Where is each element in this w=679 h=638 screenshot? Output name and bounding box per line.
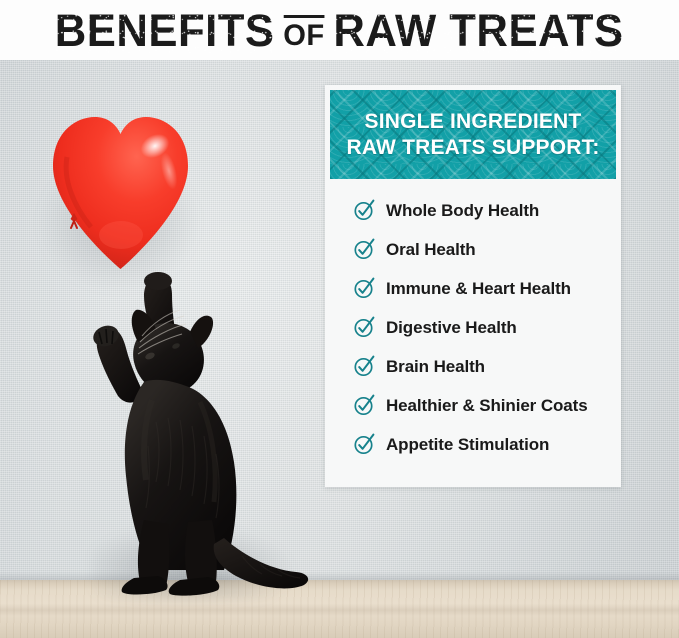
benefit-label: Brain Health xyxy=(386,358,485,376)
check-circle-icon xyxy=(353,238,375,260)
black-cat xyxy=(82,270,314,596)
benefit-label: Appetite Stimulation xyxy=(386,436,549,454)
list-item: Healthier & Shinier Coats xyxy=(325,386,621,425)
check-circle-icon xyxy=(353,433,375,455)
title-of-overline xyxy=(284,15,325,18)
list-item: Brain Health xyxy=(325,347,621,386)
benefit-label: Whole Body Health xyxy=(386,202,539,220)
page-title: BENEFITS OF RAW TREATS xyxy=(55,8,624,53)
list-item: Oral Health xyxy=(325,230,621,269)
list-item: Appetite Stimulation xyxy=(325,425,621,464)
card-header-line-1: SINGLE INGREDIENT xyxy=(346,109,599,135)
check-circle-icon xyxy=(353,316,375,338)
benefits-list: Whole Body Health Oral Health xyxy=(325,191,621,464)
benefit-label: Digestive Health xyxy=(386,319,517,337)
title-part-raw-treats: RAW TREATS xyxy=(334,8,624,53)
benefit-label: Immune & Heart Health xyxy=(386,280,571,298)
balloon-knot xyxy=(68,213,80,229)
card-header-line-2: RAW TREATS SUPPORT: xyxy=(346,135,599,161)
check-circle-icon xyxy=(353,394,375,416)
list-item: Whole Body Health xyxy=(325,191,621,230)
card-header: SINGLE INGREDIENT RAW TREATS SUPPORT: xyxy=(330,90,616,179)
check-circle-icon xyxy=(353,199,375,221)
check-circle-icon xyxy=(353,277,375,299)
check-circle-icon xyxy=(353,355,375,377)
benefits-card: SINGLE INGREDIENT RAW TREATS SUPPORT: Wh… xyxy=(325,85,621,487)
benefit-label: Oral Health xyxy=(386,241,476,259)
title-of-label: OF xyxy=(284,19,325,52)
list-item: Digestive Health xyxy=(325,308,621,347)
title-band: BENEFITS OF RAW TREATS xyxy=(0,0,679,60)
poster-root: BENEFITS OF RAW TREATS SINGLE INGREDIENT… xyxy=(0,0,679,638)
benefit-label: Healthier & Shinier Coats xyxy=(386,397,588,415)
list-item: Immune & Heart Health xyxy=(325,269,621,308)
heart-balloon xyxy=(47,109,194,274)
title-part-of: OF xyxy=(284,15,325,51)
card-header-text: SINGLE INGREDIENT RAW TREATS SUPPORT: xyxy=(346,109,599,161)
title-part-benefits: BENEFITS xyxy=(55,8,275,53)
